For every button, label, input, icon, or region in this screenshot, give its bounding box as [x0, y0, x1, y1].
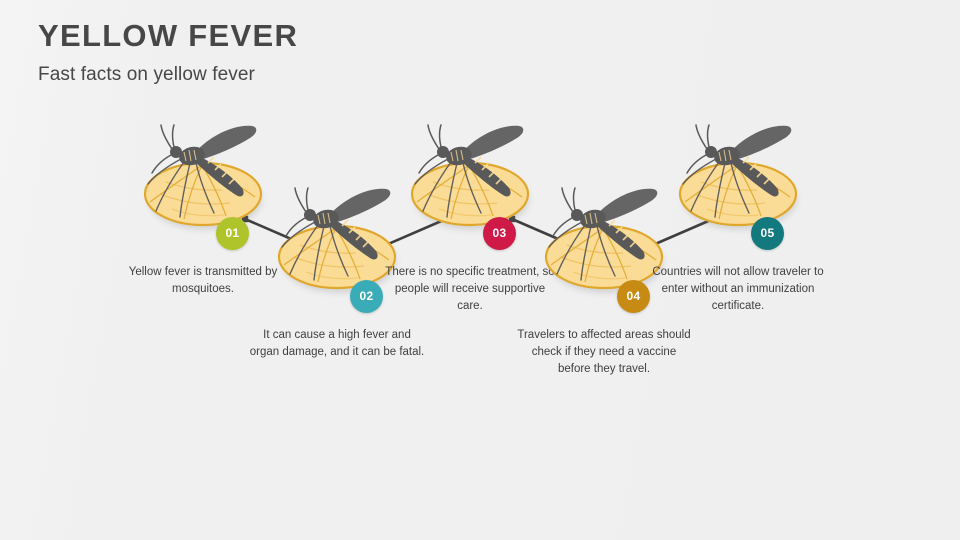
step-node[interactable]: 05Countries will not allow traveler to e…	[650, 160, 826, 315]
step-caption: Countries will not allow traveler to ent…	[650, 264, 826, 315]
step-number-badge[interactable]: 03	[483, 217, 516, 250]
step-caption: Travelers to affected areas should check…	[516, 327, 692, 378]
step-number-badge[interactable]: 05	[751, 217, 784, 250]
step-number-badge[interactable]: 04	[617, 280, 650, 313]
mosquito-blob-icon: 04	[545, 223, 663, 291]
mosquito-blob-icon: 02	[278, 223, 396, 291]
step-number-badge[interactable]: 01	[216, 217, 249, 250]
mosquito-blob-icon: 05	[679, 160, 797, 228]
step-number-badge[interactable]: 02	[350, 280, 383, 313]
mosquito-blob-icon: 03	[411, 160, 529, 228]
step-caption: It can cause a high fever and organ dama…	[249, 327, 425, 361]
slide-canvas: YELLOW FEVER Fast facts on yellow fever	[0, 0, 960, 540]
mosquito-blob-icon: 01	[144, 160, 262, 228]
process-diagram: 01Yellow fever is transmitted by mosquit…	[0, 0, 960, 540]
